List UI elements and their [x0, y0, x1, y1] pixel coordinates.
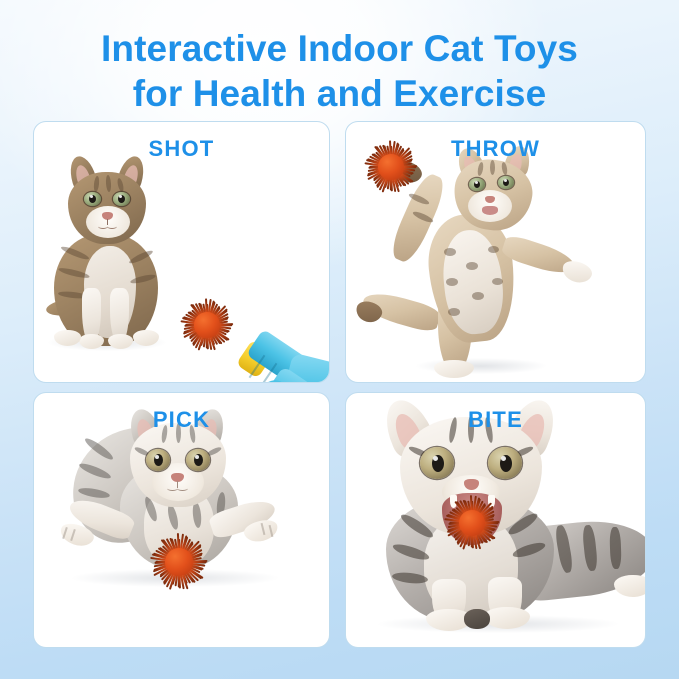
- panel-label-shot: SHOT: [34, 136, 329, 162]
- toy-spiky-ball: [154, 537, 204, 587]
- infographic-canvas: Interactive Indoor Cat Toys for Health a…: [0, 0, 679, 679]
- page-title: Interactive Indoor Cat Toys for Health a…: [0, 26, 679, 116]
- panel-label-throw: THROW: [346, 136, 645, 162]
- title-line-2: for Health and Exercise: [0, 71, 679, 116]
- feature-panel-throw[interactable]: THROW: [345, 121, 646, 383]
- title-line-1: Interactive Indoor Cat Toys: [0, 26, 679, 71]
- toy-spiky-ball: [184, 302, 230, 348]
- panel-label-bite: BITE: [346, 407, 645, 433]
- feature-panel-pick[interactable]: PICK: [33, 392, 330, 648]
- feature-panel-shot[interactable]: SHOT: [33, 121, 330, 383]
- feature-panel-bite[interactable]: BITE: [345, 392, 646, 648]
- toy-spiky-ball: [448, 499, 496, 547]
- panel-label-pick: PICK: [34, 407, 329, 433]
